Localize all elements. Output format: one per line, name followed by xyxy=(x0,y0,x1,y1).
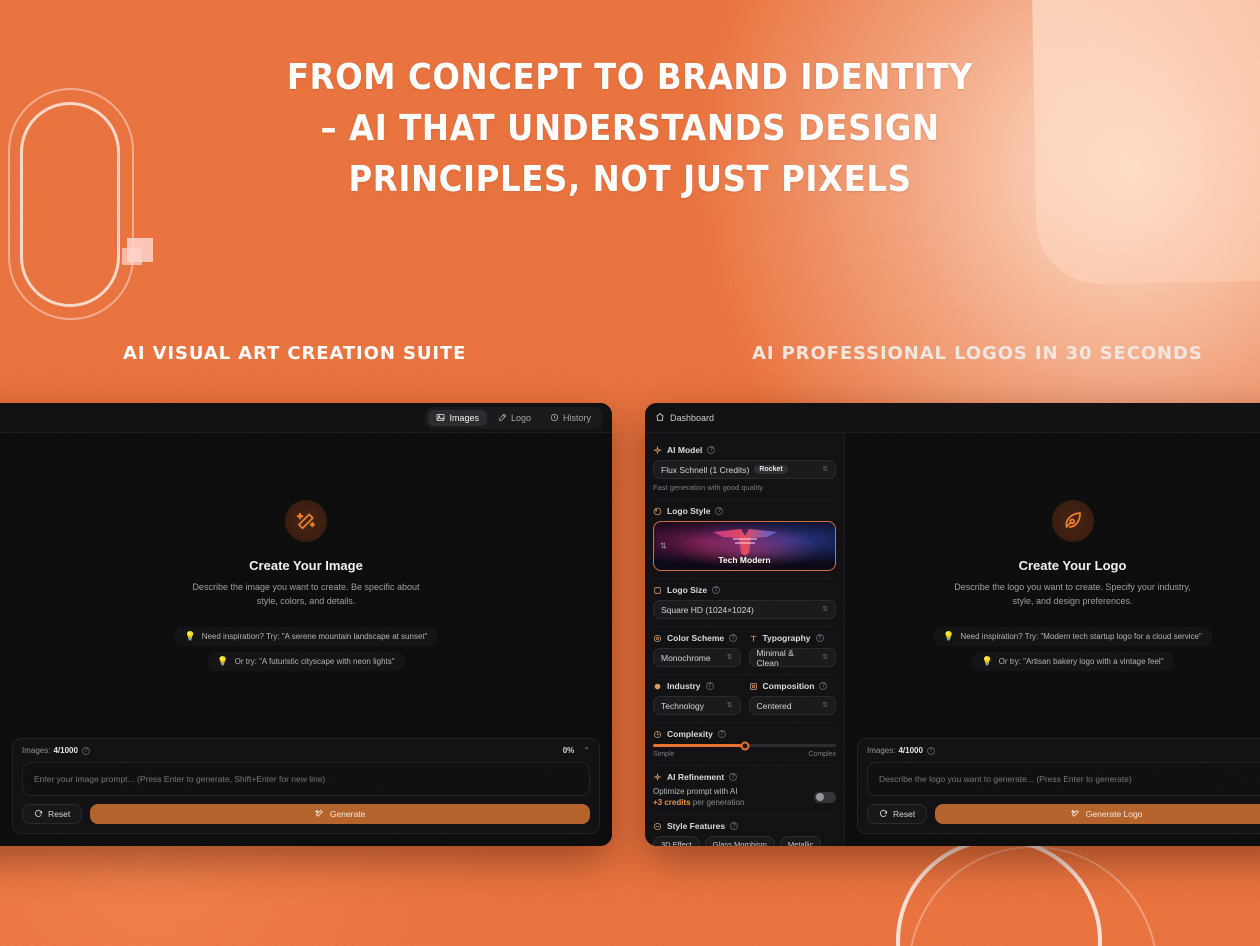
style-chip-metallic[interactable]: Metallic xyxy=(780,836,821,846)
help-icon[interactable]: ? xyxy=(718,730,726,738)
chevron-updown-icon: ⇅ xyxy=(727,654,733,661)
left-empty-state: Create Your Image Describe the image you… xyxy=(0,433,612,738)
help-icon[interactable]: ? xyxy=(729,773,737,781)
ai-refinement-label: AI Refinement ? xyxy=(653,772,836,782)
sparkle-icon xyxy=(653,446,662,455)
help-icon[interactable]: ? xyxy=(715,507,723,515)
style-features-section: Style Features ? 3D Effect Glass Morphis… xyxy=(653,815,836,846)
breadcrumb-label: Dashboard xyxy=(670,413,714,423)
headline-line-3: PRINCIPLES, NOT JUST PIXELS xyxy=(0,154,1260,205)
right-topbar: Dashboard xyxy=(645,403,1260,433)
ai-refinement-text: Optimize prompt with AI +3 credits per g… xyxy=(653,787,808,807)
layout-icon xyxy=(749,682,758,691)
left-progress-percent: 0% xyxy=(563,746,575,755)
decorative-square xyxy=(127,238,153,262)
help-icon[interactable]: ? xyxy=(712,586,720,594)
complexity-section: Complexity ? Simple Complex xyxy=(653,723,836,766)
logo-style-label-text: Logo Style xyxy=(667,506,710,516)
left-body: Image ⇅ ⇅ xyxy=(0,433,612,846)
logo-icon xyxy=(498,413,507,422)
left-counter-label: Images: xyxy=(22,746,50,755)
right-main-area: Create Your Logo Describe the logo you w… xyxy=(845,433,1260,846)
typography-label-text: Typography xyxy=(763,633,811,643)
ai-model-hint: Fast generation with good quality xyxy=(653,483,836,492)
history-icon xyxy=(550,413,559,422)
right-reset-button[interactable]: Reset xyxy=(867,804,927,824)
sparkle-icon xyxy=(315,809,324,820)
left-generate-label: Generate xyxy=(330,809,365,819)
complexity-min-label: Simple xyxy=(653,751,674,758)
complexity-label: Complexity ? xyxy=(653,729,836,739)
subtitle-right: AI PROFESSIONAL LOGOS IN 30 SECONDS xyxy=(752,343,1203,364)
complexity-slider-fill xyxy=(653,744,745,747)
tab-logo[interactable]: Logo xyxy=(490,410,539,426)
help-icon[interactable]: ? xyxy=(816,634,824,642)
right-tip-2: 💡 Or try: "Artisan bakery logo with a vi… xyxy=(971,652,1173,671)
logo-preview-mark xyxy=(709,527,781,557)
decorative-square-secondary xyxy=(122,248,142,265)
lightbulb-icon: 💡 xyxy=(184,632,195,641)
complexity-slider-track[interactable] xyxy=(653,744,836,747)
left-prompt-actions: Reset Generate xyxy=(22,804,590,824)
industry-value: Technology xyxy=(661,701,704,711)
left-main-area: Create Your Image Describe the image you… xyxy=(0,433,612,846)
ai-model-value: Flux Schnell (1 Credits) xyxy=(661,465,749,475)
droplet-icon xyxy=(653,634,662,643)
left-generate-button[interactable]: Generate xyxy=(90,804,590,824)
wand-icon xyxy=(653,822,662,831)
headline-line-2: – AI THAT UNDERSTANDS DESIGN xyxy=(0,103,1260,154)
logo-size-section: Logo Size ? Square HD (1024×1024) ⇅ xyxy=(653,579,836,627)
left-tip-1: 💡 Need inspiration? Try: "A serene mount… xyxy=(174,627,437,646)
refresh-icon xyxy=(879,809,888,820)
lightbulb-icon: 💡 xyxy=(943,632,954,641)
tab-history[interactable]: History xyxy=(542,410,599,426)
left-prompt-input[interactable]: Enter your image prompt... (Press Enter … xyxy=(22,762,590,796)
right-counter-label: Images: xyxy=(867,746,895,755)
complexity-slider[interactable]: Simple Complex xyxy=(653,744,836,758)
right-body: AI Model ? Flux Schnell (1 Credits) Rock… xyxy=(645,433,1260,846)
color-scheme-select[interactable]: Monochrome ⇅ xyxy=(653,648,741,667)
ai-model-select[interactable]: Flux Schnell (1 Credits) Rocket ⇅ xyxy=(653,460,836,479)
left-reset-label: Reset xyxy=(48,809,70,819)
tab-images[interactable]: Images xyxy=(428,410,487,426)
composition-select[interactable]: Centered ⇅ xyxy=(749,696,837,715)
type-icon xyxy=(749,634,758,643)
left-prompt-header: Images: 4/1000 ? 0% ⌃ xyxy=(22,746,590,755)
breadcrumb[interactable]: Dashboard xyxy=(655,412,714,424)
headline-line-1: FROM CONCEPT TO BRAND IDENTITY xyxy=(0,52,1260,103)
tab-history-label: History xyxy=(563,413,591,423)
home-icon xyxy=(655,412,665,424)
ai-refinement-suffix: per generation xyxy=(691,798,745,807)
chevron-updown-icon: ⇅ xyxy=(822,466,828,473)
chevron-up-icon[interactable]: ⌃ xyxy=(583,746,590,755)
typography-label: Typography ? xyxy=(749,633,837,643)
composition-label-text: Composition xyxy=(763,681,815,691)
help-icon[interactable]: ? xyxy=(729,634,737,642)
color-scheme-value: Monochrome xyxy=(661,653,711,663)
color-typography-section: Color Scheme ? Monochrome ⇅ xyxy=(653,627,836,675)
left-tip-2: 💡 Or try: "A futuristic cityscape with n… xyxy=(207,652,404,671)
poster-headline: FROM CONCEPT TO BRAND IDENTITY – AI THAT… xyxy=(0,52,1260,205)
chevron-updown-icon: ⇅ xyxy=(822,606,828,613)
chevron-updown-icon: ⇅ xyxy=(660,542,667,551)
style-chip-3d-effect[interactable]: 3D Effect xyxy=(653,836,700,846)
left-tab-group: Images Logo xyxy=(425,407,602,429)
style-features-label: Style Features ? xyxy=(653,821,836,831)
logo-style-section: Logo Style ? ⇅ xyxy=(653,500,836,579)
refresh-icon xyxy=(34,809,43,820)
complexity-max-label: Complex xyxy=(808,751,836,758)
ai-refinement-toggle[interactable] xyxy=(814,792,836,803)
chevron-updown-icon: ⇅ xyxy=(822,654,828,661)
left-topbar: Images Logo xyxy=(0,403,612,433)
ai-refinement-line-1: Optimize prompt with AI xyxy=(653,787,808,796)
chevron-updown-icon: ⇅ xyxy=(822,702,828,709)
globe-icon xyxy=(653,682,662,691)
right-tip-1-text: Need inspiration? Try: "Modern tech star… xyxy=(960,632,1201,641)
right-empty-description: Describe the logo you want to create. Sp… xyxy=(948,580,1198,608)
logo-style-name: Tech Modern xyxy=(718,555,770,565)
typography-group: Typography ? Minimal & Clean ⇅ xyxy=(749,633,837,667)
ai-model-label: AI Model ? xyxy=(653,445,836,455)
help-icon[interactable]: ? xyxy=(82,747,90,755)
style-features-label-text: Style Features xyxy=(667,821,725,831)
logo-style-preview[interactable]: ⇅ Tech Mode xyxy=(653,521,836,571)
help-icon[interactable]: ? xyxy=(819,682,827,690)
right-tip-2-text: Or try: "Artisan bakery logo with a vint… xyxy=(999,657,1164,666)
chevron-updown-icon: ⇅ xyxy=(727,702,733,709)
poster-canvas: FROM CONCEPT TO BRAND IDENTITY – AI THAT… xyxy=(0,0,1260,946)
industry-composition-section: Industry ? Technology ⇅ xyxy=(653,675,836,723)
right-empty-state: Create Your Logo Describe the logo you w… xyxy=(845,433,1260,738)
left-counter-value: 4/1000 xyxy=(53,746,77,755)
ai-refinement-credits: +3 credits xyxy=(653,798,691,807)
decorative-circle-outline-inner xyxy=(896,838,1102,946)
complexity-slider-knob[interactable] xyxy=(740,741,749,750)
help-icon[interactable]: ? xyxy=(707,446,715,454)
composition-value: Centered xyxy=(757,701,792,711)
right-empty-title: Create Your Logo xyxy=(1019,558,1127,573)
right-prompt-header: Images: 4/1000 ? xyxy=(867,746,1260,755)
composition-label: Composition ? xyxy=(749,681,837,691)
help-icon[interactable]: ? xyxy=(730,822,738,830)
right-counter-value: 4/1000 xyxy=(898,746,922,755)
sparkle-icon xyxy=(653,773,662,782)
ai-refinement-section: AI Refinement ? Optimize prompt with AI … xyxy=(653,766,836,815)
left-reset-button[interactable]: Reset xyxy=(22,804,82,824)
sparkle-icon xyxy=(1071,809,1080,820)
style-features-chips: 3D Effect Glass Morphism Metallic Neon G… xyxy=(653,836,836,846)
right-tip-1: 💡 Need inspiration? Try: "Modern tech st… xyxy=(933,627,1212,646)
complexity-slider-labels: Simple Complex xyxy=(653,751,836,758)
ai-model-badge: Rocket xyxy=(754,465,787,474)
logo-size-label: Logo Size ? xyxy=(653,585,836,595)
ai-model-section: AI Model ? Flux Schnell (1 Credits) Rock… xyxy=(653,439,836,500)
palette-icon xyxy=(653,507,662,516)
typography-value: Minimal & Clean xyxy=(757,648,818,668)
right-generate-label: Generate Logo xyxy=(1086,809,1143,819)
industry-select[interactable]: Technology ⇅ xyxy=(653,696,741,715)
complexity-label-text: Complexity xyxy=(667,729,713,739)
right-prompt-input[interactable]: Describe the logo you want to generate..… xyxy=(867,762,1260,796)
ai-refinement-line-2: +3 credits per generation xyxy=(653,798,808,807)
ai-refinement-row: Optimize prompt with AI +3 credits per g… xyxy=(653,787,836,807)
color-scheme-label-text: Color Scheme xyxy=(667,633,724,643)
tab-logo-label: Logo xyxy=(511,413,531,423)
industry-label-text: Industry xyxy=(667,681,701,691)
left-prompt-bar: Images: 4/1000 ? 0% ⌃ Enter your image p… xyxy=(12,738,600,834)
pen-nib-icon xyxy=(1052,500,1094,542)
right-generate-button[interactable]: Generate Logo xyxy=(935,804,1260,824)
subtitle-left: AI VISUAL ART CREATION SUITE xyxy=(123,343,466,364)
left-empty-title: Create Your Image xyxy=(249,558,363,573)
logo-size-value: Square HD (1024×1024) xyxy=(661,605,754,615)
image-icon xyxy=(436,413,445,422)
crop-icon xyxy=(653,586,662,595)
left-tip-1-text: Need inspiration? Try: "A serene mountai… xyxy=(202,632,428,641)
image-generator-window: Images Logo xyxy=(0,403,612,846)
right-sidebar: AI Model ? Flux Schnell (1 Credits) Rock… xyxy=(645,433,845,846)
right-reset-label: Reset xyxy=(893,809,915,819)
tab-images-label: Images xyxy=(449,413,479,423)
decorative-circle-outline-outer xyxy=(908,846,1158,946)
color-scheme-label: Color Scheme ? xyxy=(653,633,741,643)
right-prompt-actions: Reset Generate Logo xyxy=(867,804,1260,824)
help-icon[interactable]: ? xyxy=(706,682,714,690)
logo-size-select[interactable]: Square HD (1024×1024) ⇅ xyxy=(653,600,836,619)
magic-wand-icon xyxy=(285,500,327,542)
lightbulb-icon: 💡 xyxy=(981,657,992,666)
right-prompt-bar: Images: 4/1000 ? Describe the logo you w… xyxy=(857,738,1260,834)
help-icon[interactable]: ? xyxy=(927,747,935,755)
color-scheme-group: Color Scheme ? Monochrome ⇅ xyxy=(653,633,741,667)
lightbulb-icon: 💡 xyxy=(217,657,228,666)
logo-generator-window: Dashboard AI Model ? xyxy=(645,403,1260,846)
industry-label: Industry ? xyxy=(653,681,741,691)
ai-refinement-label-text: AI Refinement xyxy=(667,772,724,782)
style-chip-glass-morphism[interactable]: Glass Morphism xyxy=(705,836,775,846)
logo-size-label-text: Logo Size xyxy=(667,585,707,595)
composition-group: Composition ? Centered ⇅ xyxy=(749,681,837,715)
sliders-icon xyxy=(653,730,662,739)
left-tip-2-text: Or try: "A futuristic cityscape with neo… xyxy=(235,657,395,666)
logo-style-label: Logo Style ? xyxy=(653,506,836,516)
ai-model-label-text: AI Model xyxy=(667,445,702,455)
industry-group: Industry ? Technology ⇅ xyxy=(653,681,741,715)
left-empty-description: Describe the image you want to create. B… xyxy=(181,580,431,608)
typography-select[interactable]: Minimal & Clean ⇅ xyxy=(749,648,837,667)
